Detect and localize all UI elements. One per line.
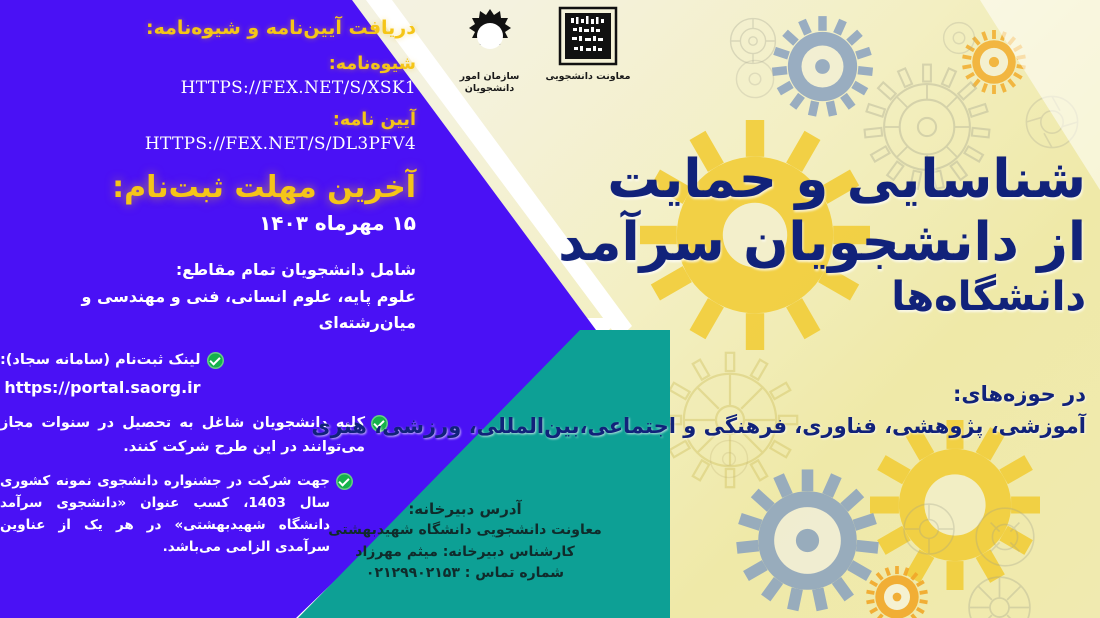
fields-label: در حوزه‌های: — [186, 382, 1086, 406]
deadline-label: آخرین مهلت ثبت‌نام: — [0, 170, 416, 205]
university-seal-icon — [558, 6, 618, 66]
check-icon — [336, 473, 353, 490]
secretariat-phone[interactable]: شماره تماس : ۰۲۱۲۹۹۰۲۱۵۳ — [300, 563, 630, 585]
gear-icon-outline-bottom-c — [952, 560, 1047, 618]
logo-row: معاونت دانشجویی سازمان امور دانشجویان — [420, 6, 670, 116]
secretariat-expert: کارشناس دبیرخانه: میثم مهرزاد — [300, 542, 630, 564]
university-caption-line: معاونت دانشجویی — [546, 71, 631, 83]
method-label: شیوه‌نامه: — [0, 54, 416, 74]
gear-icon-blue-bottom — [735, 468, 880, 613]
gear-icon-outline-bottom-a — [890, 490, 968, 568]
gear-icon-outline-mid-small — [700, 430, 758, 488]
organization-starburst-icon — [460, 6, 520, 66]
organization-caption-line2: دانشجویان — [460, 83, 520, 95]
student-affairs-organization-logo: سازمان امور دانشجویان — [460, 6, 520, 96]
gear-icon-orange-bottom — [866, 566, 928, 618]
secretariat-block: آدرس دبیرخانه: معاونت دانشجویی دانشگاه ش… — [300, 500, 630, 585]
poster-canvas: معاونت دانشجویی سازمان امور دانشجویان در… — [0, 0, 1100, 618]
check-icon — [207, 352, 224, 369]
title-line-2: از دانشجویان سرآمد — [446, 213, 1086, 272]
gear-icon-outline-tiny-c — [726, 50, 784, 108]
title-line-1: شناسایی و حمایت — [446, 150, 1086, 209]
fields-section: در حوزه‌های: آموزشی، پژوهشی، فناوری، فره… — [186, 382, 1086, 438]
organization-caption-line1: سازمان امور — [460, 71, 520, 83]
shahid-beheshti-university-logo: معاونت دانشجویی — [546, 6, 631, 83]
bullet-label: لینک ثبت‌نام (سامانه سجاد): — [0, 352, 201, 368]
download-heading: دریافت آیین‌نامه و شیوه‌نامه: — [0, 16, 416, 42]
scope-heading: شامل دانشجویان تمام مقاطع: — [0, 257, 416, 283]
gear-icon-outline-tiny-a — [935, 14, 983, 62]
regulation-label: آیین نامه: — [0, 110, 416, 130]
bullet-text: لینک ثبت‌نام (سامانه سجاد): https://port… — [0, 349, 201, 401]
scope-disciplines: علوم پایه، علوم انسانی، فنی و مهندسی و م… — [0, 284, 416, 335]
bullet-text: جهت شرکت در جشنواره دانشجوی نمونه کشوری … — [0, 470, 330, 559]
university-logo-caption: معاونت دانشجویی — [546, 71, 631, 83]
secretariat-title: آدرس دبیرخانه: — [300, 500, 630, 518]
fields-list: آموزشی، پژوهشی، فناوری، فرهنگی و اجتماعی… — [186, 414, 1086, 438]
regulation-url-link[interactable]: HTTPS://FEX.NET/S/DL3PFV4 — [0, 134, 416, 154]
secretariat-address: معاونت دانشجویی دانشگاه شهیدبهشتی — [300, 520, 630, 542]
method-url-link[interactable]: HTTPS://FEX.NET/S/XSK1 — [0, 78, 416, 98]
organization-logo-caption: سازمان امور دانشجویان — [460, 71, 520, 96]
title-line-3: دانشگاه‌ها — [446, 275, 1086, 320]
deadline-date: ۱۵ مهرماه ۱۴۰۳ — [0, 211, 416, 235]
poster-title: شناسایی و حمایت از دانشجویان سرآمد دانشگ… — [446, 150, 1086, 320]
registration-portal-link[interactable]: https://portal.saorg.ir — [0, 375, 201, 401]
